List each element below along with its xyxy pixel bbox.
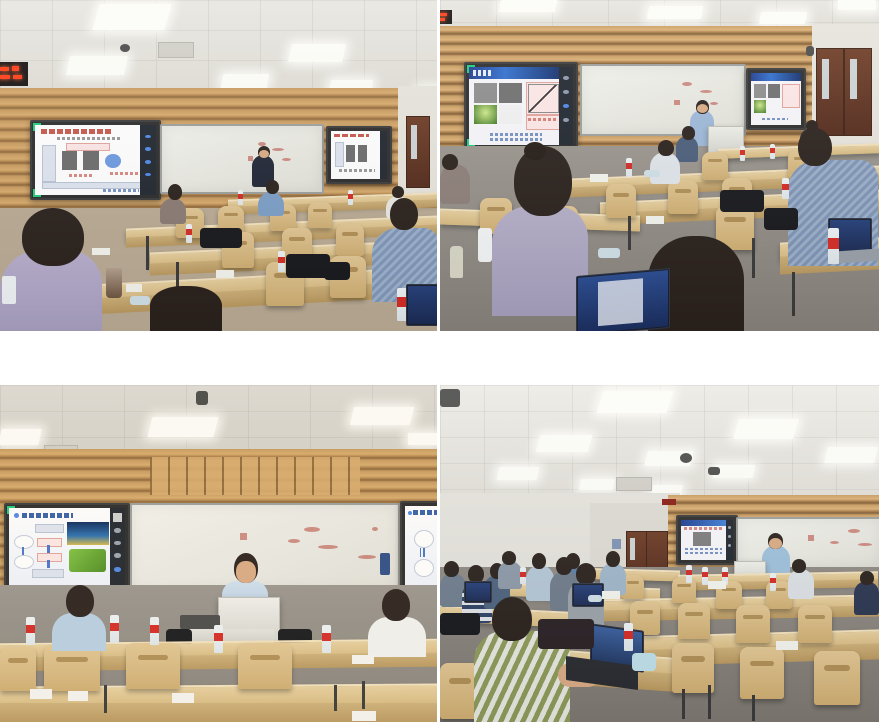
main-display-screen[interactable] — [4, 503, 130, 591]
desk-card — [590, 174, 608, 182]
led-display-sign — [440, 10, 452, 24]
ceiling-light — [647, 6, 704, 19]
photo-top-right[interactable] — [440, 0, 879, 331]
main-display-surface — [35, 125, 156, 195]
main-display-screen[interactable] — [676, 515, 738, 565]
attendee-body — [440, 164, 470, 204]
face-mask — [598, 248, 620, 258]
attendee-head — [22, 208, 84, 266]
water-bottle — [624, 623, 633, 651]
classroom-scene-top-right — [440, 0, 879, 331]
ceiling-light — [596, 391, 673, 413]
backpack — [440, 613, 480, 635]
attendee-body — [368, 617, 426, 657]
ceiling-light — [408, 433, 437, 445]
water-bottle — [740, 146, 745, 161]
attendee-head — [66, 585, 94, 617]
laptop[interactable] — [406, 284, 437, 326]
attendee-head — [444, 561, 459, 577]
desk-card — [68, 691, 88, 701]
chair — [606, 184, 636, 218]
water-bottle — [186, 224, 192, 243]
chair — [308, 202, 332, 228]
display-toolbar[interactable] — [380, 131, 387, 179]
side-display-surface — [405, 506, 437, 586]
water-bottle — [828, 228, 839, 264]
backpack — [200, 228, 242, 248]
ceiling-speaker — [196, 391, 208, 405]
slide-content-bottom-right — [681, 520, 733, 560]
side-display-surface — [751, 73, 801, 125]
slide-content-side-top-right — [751, 73, 801, 125]
attendee-head — [390, 198, 418, 230]
attendee-head — [532, 553, 546, 569]
face-mask — [632, 653, 656, 671]
main-display-surface — [9, 508, 125, 586]
ceiling-light — [838, 0, 876, 10]
ceiling-light — [759, 12, 807, 24]
led-display-sign — [0, 62, 28, 86]
photo-collage-sheet — [0, 0, 879, 722]
chair — [798, 605, 832, 643]
attendee-head — [266, 180, 279, 194]
ceiling-light — [66, 56, 128, 75]
classroom-scene-top-left — [0, 0, 437, 331]
wall-speaker — [440, 389, 460, 407]
attendee-head — [150, 286, 222, 331]
wood-slat-vertical-accent — [150, 457, 360, 495]
rear-door — [406, 116, 430, 188]
classroom-scene-bottom-left — [0, 385, 437, 722]
whiteboard — [130, 503, 400, 591]
laptop[interactable] — [576, 268, 670, 331]
presenter-face — [697, 104, 708, 113]
ceiling-speaker — [708, 467, 720, 475]
attendee-head — [860, 571, 874, 585]
screen-corner-marker — [33, 189, 41, 197]
main-display-screen[interactable] — [30, 120, 161, 200]
chair — [740, 647, 784, 699]
wall-notice — [612, 539, 621, 549]
desk-card — [708, 581, 726, 589]
water-bottle — [238, 190, 243, 205]
side-display-screen[interactable] — [400, 501, 437, 591]
ceiling-light — [497, 467, 540, 480]
screen-corner-marker — [467, 65, 475, 73]
water-bottle — [150, 617, 159, 645]
desk-card — [776, 641, 798, 650]
chair — [238, 643, 292, 689]
presenter-face — [769, 538, 782, 549]
face-mask — [130, 296, 150, 305]
desk-card — [352, 711, 376, 721]
chair — [702, 152, 728, 180]
water-bottle — [348, 190, 353, 205]
presenter-face — [236, 561, 256, 583]
attendee-head — [392, 186, 404, 198]
desk-card — [216, 270, 234, 278]
display-toolbar[interactable] — [110, 508, 125, 586]
water-bottle — [110, 615, 119, 643]
side-display-screen[interactable] — [326, 126, 392, 184]
slide-content-top-left — [35, 125, 156, 195]
chair — [126, 643, 180, 689]
presenter-face — [259, 150, 269, 158]
attendee-head — [382, 589, 410, 621]
water-bottle — [278, 251, 285, 272]
backpack — [538, 619, 594, 649]
attendee-body — [650, 152, 680, 184]
display-toolbar[interactable] — [559, 67, 573, 145]
water-bottle — [782, 178, 789, 199]
photo-bottom-right[interactable] — [440, 385, 879, 722]
water-bottle — [214, 625, 223, 653]
desk-card — [126, 284, 142, 292]
display-toolbar[interactable] — [726, 520, 733, 560]
main-display-surface — [681, 520, 733, 560]
ceiling-light — [579, 479, 615, 490]
slide-content-top-right — [469, 67, 573, 145]
desk-card — [172, 693, 194, 703]
water-bottle — [322, 625, 331, 653]
ceiling-light — [0, 429, 42, 445]
exit-sign — [662, 499, 676, 505]
attendee-body — [160, 198, 186, 224]
ceiling-light — [221, 74, 269, 88]
rear-door — [816, 48, 844, 136]
ceiling-light — [824, 447, 878, 463]
slide-content-side-top-left — [331, 131, 387, 179]
attendee-body — [52, 613, 106, 651]
ceiling-light — [148, 417, 219, 437]
attendee-body — [498, 561, 522, 589]
water-bottle — [520, 567, 526, 584]
water-bottle — [770, 573, 776, 591]
laptop[interactable] — [464, 581, 492, 603]
attendee-head — [792, 559, 806, 573]
attendee-head — [168, 184, 182, 200]
coffee-cup — [106, 268, 122, 298]
chair — [672, 577, 696, 603]
screen-corner-marker — [33, 123, 41, 131]
foreground-attendee-head — [492, 597, 532, 641]
water-bottle — [626, 158, 632, 177]
attendee-body — [258, 192, 284, 216]
slide-content-bottom-left — [9, 508, 125, 586]
backpack — [764, 208, 798, 230]
classroom-scene-bottom-right — [440, 385, 879, 722]
ceiling-light — [92, 4, 171, 30]
wall-speaker — [806, 46, 814, 56]
chair — [814, 651, 860, 705]
desk-card — [30, 689, 52, 699]
whiteboard — [160, 124, 324, 194]
face-mask — [644, 170, 660, 177]
ceiling-light — [733, 419, 799, 439]
face-mask — [588, 595, 602, 602]
thermos — [2, 276, 16, 304]
ceiling-light — [350, 407, 414, 425]
attendee-head — [576, 563, 596, 585]
attendee-head — [658, 140, 674, 156]
attendee-body — [492, 206, 588, 316]
ceiling-speaker — [680, 453, 692, 463]
water-bottle — [770, 144, 775, 159]
main-display-surface — [469, 67, 573, 145]
thermos — [450, 246, 463, 278]
attendee-body — [788, 569, 814, 599]
hair-bun — [524, 142, 546, 160]
ceiling-light — [499, 0, 558, 12]
desk-card — [352, 655, 374, 664]
rear-door — [844, 48, 872, 136]
attendee-head — [442, 154, 458, 170]
water-bottle — [26, 617, 35, 645]
attendee-head — [502, 551, 516, 565]
screen-corner-marker — [7, 506, 15, 514]
chair — [336, 224, 364, 256]
chair — [44, 645, 100, 691]
ceiling-vent — [158, 42, 194, 58]
photo-top-left[interactable] — [0, 0, 437, 331]
slide-content-side-bottom-left — [405, 506, 437, 586]
attendee-head — [798, 128, 832, 166]
main-display-screen[interactable] — [464, 62, 578, 150]
side-display-screen[interactable] — [746, 68, 806, 130]
water-bottle — [686, 565, 692, 583]
attendee-head — [556, 557, 572, 575]
ceiling-vent — [616, 477, 652, 491]
attendee-head — [606, 551, 620, 567]
display-toolbar[interactable] — [140, 125, 156, 195]
desk-card — [646, 216, 664, 224]
chair — [736, 605, 770, 643]
chair — [668, 180, 698, 214]
attendee-body — [854, 581, 879, 615]
attendee-head — [682, 126, 695, 140]
side-display-surface — [331, 131, 387, 179]
chair — [0, 647, 36, 691]
ceiling-light — [536, 435, 593, 452]
ceiling-light — [288, 44, 346, 62]
backpack — [324, 262, 350, 280]
desk-card — [92, 248, 110, 255]
desk-card — [602, 591, 620, 599]
photo-bottom-left[interactable] — [0, 385, 437, 722]
backpack — [720, 190, 764, 212]
ceiling-speaker — [120, 44, 130, 52]
chair — [678, 603, 710, 639]
thermos — [478, 228, 492, 262]
